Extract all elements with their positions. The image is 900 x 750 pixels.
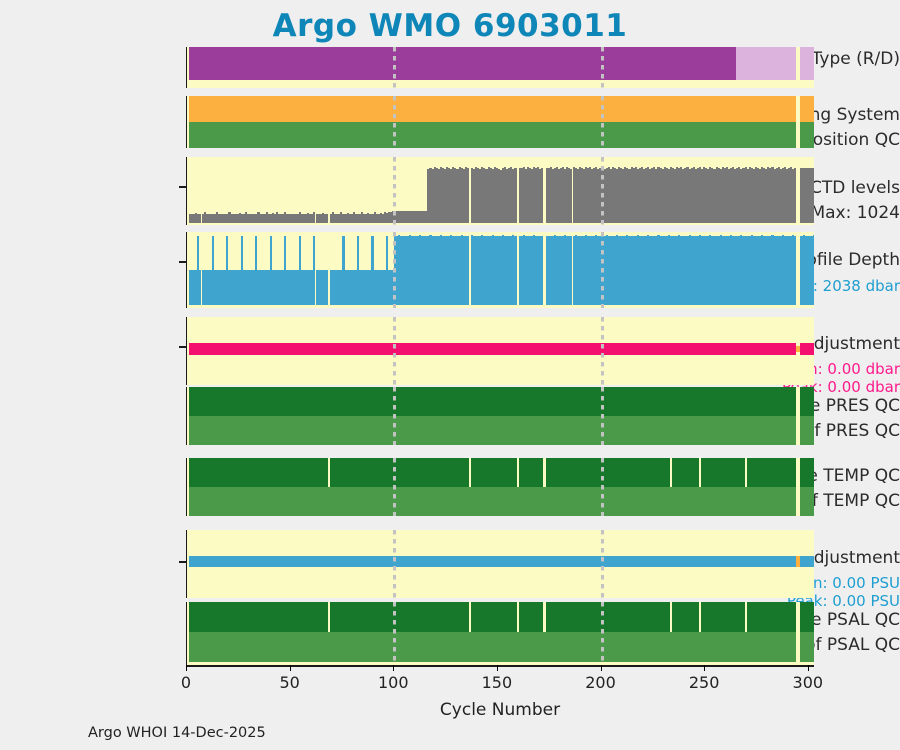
panel-pres-adjustment[interactable]	[186, 317, 814, 385]
profile-depth-bar	[514, 236, 516, 305]
panel-temp-qc[interactable]	[186, 458, 814, 516]
positioning_system-segment	[800, 96, 814, 122]
gridline-cycle-200	[601, 317, 604, 385]
ytick-profile-depth	[179, 261, 186, 263]
panel-ctd-levels[interactable]	[186, 157, 814, 225]
ctd-levels-bar	[326, 214, 328, 223]
position_qc-segment	[800, 122, 814, 148]
psal_adjustment-line	[189, 556, 796, 567]
xtick-mark-150	[497, 665, 498, 671]
xtick-label-300: 300	[793, 673, 824, 692]
mode_pres_qc-segment	[800, 416, 814, 445]
gridline-cycle-200	[601, 458, 604, 516]
ctd-levels-bar	[794, 168, 796, 223]
mode_temp_qc-segment	[800, 487, 814, 516]
mode_psal_qc-segment	[800, 632, 814, 662]
gridline-cycle-100	[393, 458, 396, 516]
gridline-cycle-200	[601, 232, 604, 308]
gridline-cycle-100	[393, 387, 396, 445]
gridline-cycle-200	[601, 47, 604, 88]
profile_temp_qc-segment	[747, 458, 797, 487]
profile_temp_qc-segment	[701, 458, 745, 487]
profile_pres_qc-segment	[800, 387, 814, 416]
ctd-levels-bar	[813, 168, 814, 223]
profile_psal_qc-segment	[519, 602, 544, 632]
gridline-cycle-100	[393, 602, 396, 666]
xtick-label-150: 150	[482, 673, 513, 692]
gridline-cycle-200	[601, 602, 604, 666]
profile_temp_qc-segment	[189, 458, 328, 487]
figure-footer: Argo WHOI 14-Dec-2025	[88, 725, 266, 741]
profile-depth-bar	[467, 236, 469, 305]
date_type-segment	[736, 47, 796, 80]
profile_pres_qc-segment	[189, 387, 796, 416]
xtick-mark-0	[186, 665, 187, 671]
xtick-mark-300	[808, 665, 809, 671]
gridline-cycle-200	[601, 387, 604, 445]
mode_pres_qc-segment	[189, 416, 796, 445]
page-title: Argo WMO 6903011	[0, 8, 900, 44]
xtick-label-250: 250	[689, 673, 720, 692]
panel-profile-depth[interactable]	[186, 232, 814, 308]
profile_psal_qc-segment	[701, 602, 745, 632]
xtick-label-50: 50	[279, 673, 299, 692]
argo-float-summary-figure: Argo WMO 6903011 Date Type (R/D) Positio…	[0, 0, 900, 750]
profile_psal_qc-segment	[800, 602, 814, 632]
mode_psal_qc-segment	[189, 632, 796, 662]
psal_adjustment-line	[800, 556, 814, 567]
profile_psal_qc-segment	[546, 602, 670, 632]
pres_adjustment-line	[189, 343, 796, 355]
ctd-levels-bar	[467, 168, 469, 223]
profile_temp_qc-segment	[672, 458, 699, 487]
profile_psal_qc-segment	[747, 602, 797, 632]
position_qc-segment	[189, 122, 796, 148]
xtick-mark-100	[393, 665, 394, 671]
gridline-cycle-200	[601, 157, 604, 225]
profile_psal_qc-segment	[330, 602, 469, 632]
ytick-pres-adjustment	[179, 346, 186, 348]
ctd-levels-bar	[514, 168, 516, 223]
psal-adjustment-marker	[796, 556, 800, 567]
profile_temp_qc-segment	[330, 458, 469, 487]
date_type-segment	[189, 47, 738, 80]
date_type-segment	[800, 47, 814, 80]
profile_psal_qc-segment	[471, 602, 517, 632]
panel-positioning-qc[interactable]	[186, 96, 814, 148]
x-axis-label: Cycle Number	[186, 700, 814, 720]
profile_temp_qc-segment	[471, 458, 517, 487]
panel-date-type[interactable]	[186, 47, 814, 88]
x-axis-rule	[186, 665, 814, 667]
gridline-cycle-100	[393, 530, 396, 598]
gridline-cycle-100	[393, 47, 396, 88]
profile_psal_qc-segment	[189, 602, 328, 632]
ytick-ctd-levels	[179, 186, 186, 188]
gridline-cycle-100	[393, 157, 396, 225]
gridline-cycle-100	[393, 96, 396, 148]
pres_adjustment-line	[800, 343, 814, 355]
profile_temp_qc-segment	[800, 458, 814, 487]
panel-pres-qc[interactable]	[186, 387, 814, 445]
xtick-mark-200	[601, 665, 602, 671]
profile-depth-bar	[794, 236, 796, 305]
gridline-cycle-100	[393, 232, 396, 308]
gridline-cycle-200	[601, 96, 604, 148]
gridline-cycle-200	[601, 530, 604, 598]
ctd-levels-bar	[541, 168, 543, 223]
mode_temp_qc-segment	[189, 487, 796, 516]
panel-psal-adjustment[interactable]	[186, 530, 814, 598]
xtick-mark-50	[290, 665, 291, 671]
ytick-psal-adjustment	[179, 561, 186, 563]
xtick-label-0: 0	[181, 673, 191, 692]
panel-psal-qc[interactable]	[186, 602, 814, 666]
pres-adjustment-marker	[796, 346, 800, 352]
profile_temp_qc-segment	[519, 458, 544, 487]
gridline-cycle-100	[393, 317, 396, 385]
profile-depth-bar	[541, 236, 543, 305]
xtick-label-200: 200	[585, 673, 616, 692]
xtick-mark-250	[704, 665, 705, 671]
profile_psal_qc-segment	[672, 602, 699, 632]
profile-depth-bar	[813, 235, 814, 305]
profile_temp_qc-segment	[546, 458, 670, 487]
positioning_system-segment	[189, 96, 796, 122]
profile-depth-bar	[326, 270, 328, 306]
xtick-label-100: 100	[378, 673, 409, 692]
